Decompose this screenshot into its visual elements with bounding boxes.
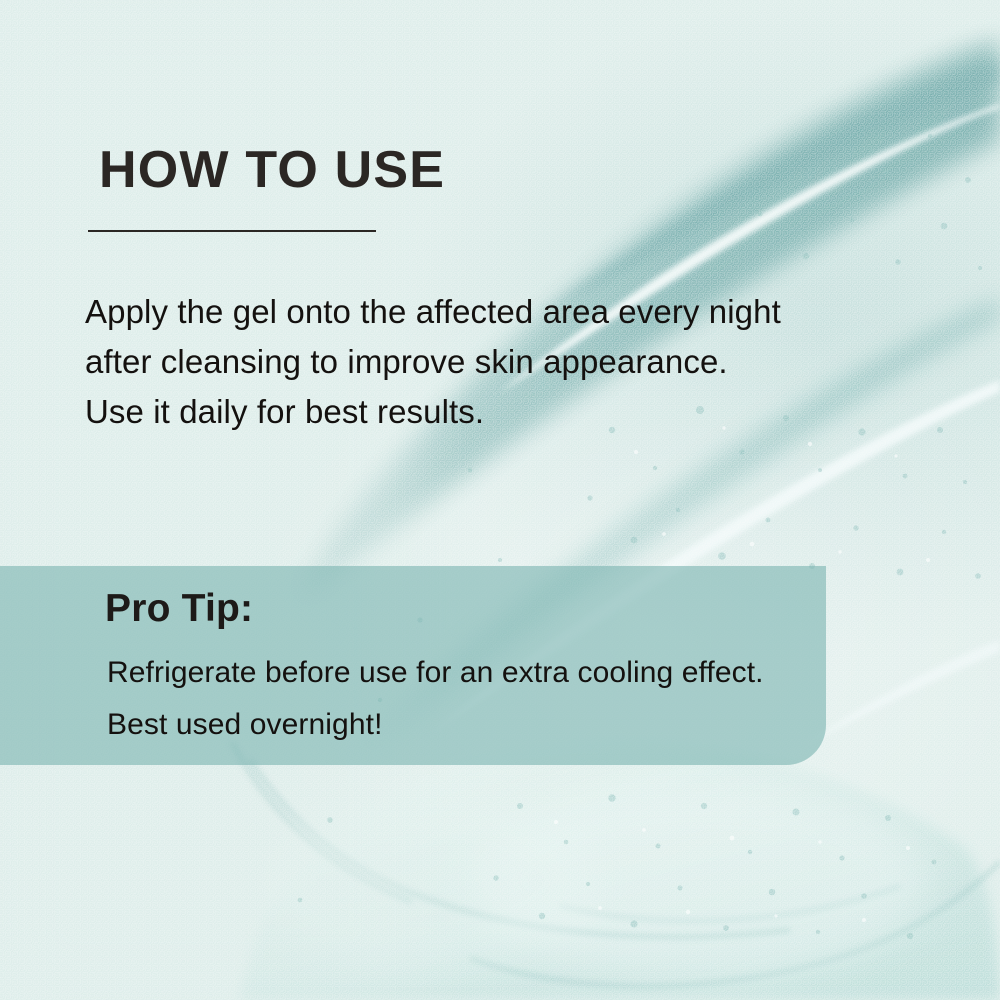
- pro-tip-line: Best used overnight!: [107, 699, 807, 751]
- pro-tip-line: Refrigerate before use for an extra cool…: [107, 647, 807, 699]
- content-layer: HOW TO USE Apply the gel onto the affect…: [0, 0, 1000, 1000]
- title-divider: [88, 230, 376, 232]
- pro-tip-title: Pro Tip:: [105, 587, 253, 631]
- pro-tip-body: Refrigerate before use for an extra cool…: [107, 647, 807, 751]
- instruction-line: Use it daily for best results.: [85, 387, 845, 437]
- instruction-line: after cleansing to improve skin appearan…: [85, 337, 845, 387]
- page-title: HOW TO USE: [99, 143, 445, 198]
- instructions-block: Apply the gel onto the affected area eve…: [85, 287, 845, 437]
- pro-tip-content: Pro Tip: Refrigerate before use for an e…: [0, 566, 826, 765]
- instruction-line: Apply the gel onto the affected area eve…: [85, 287, 845, 337]
